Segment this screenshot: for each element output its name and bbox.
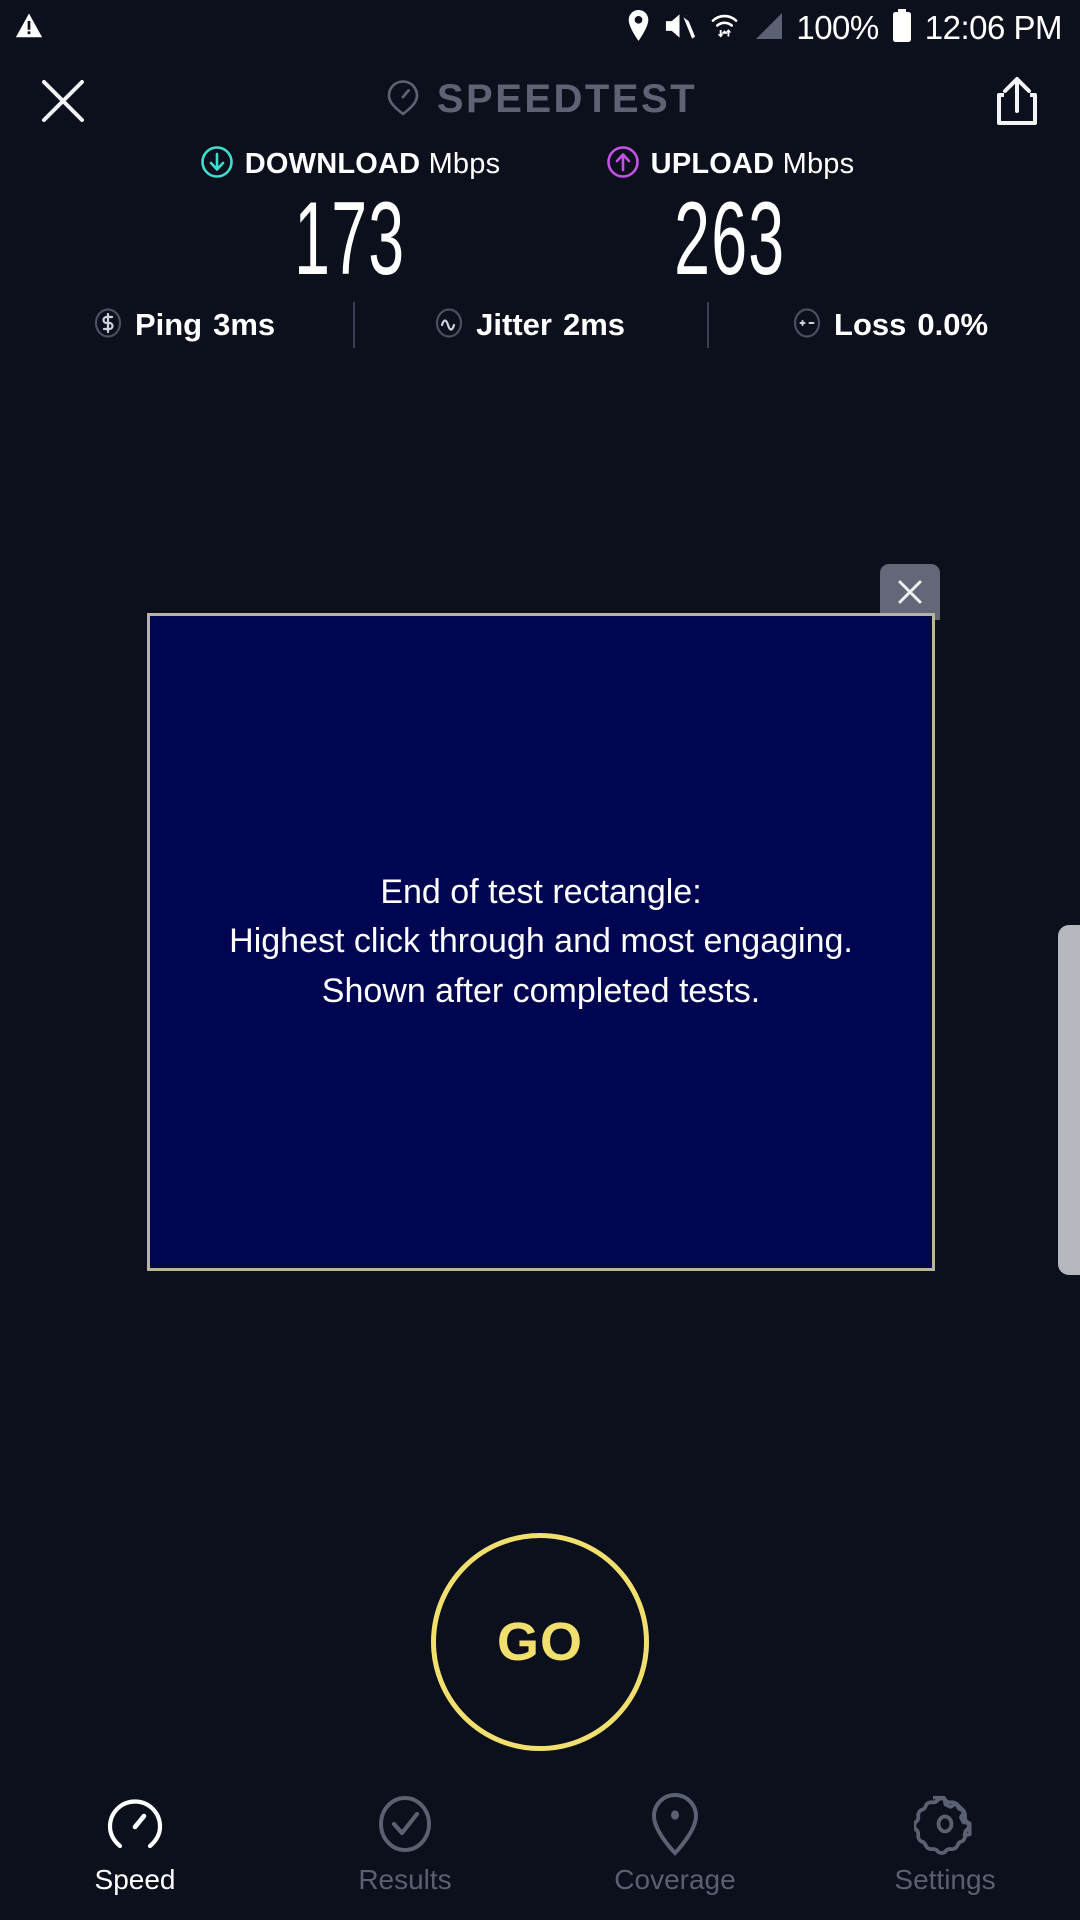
download-upload-row: DOWNLOAD Mbps 173 UPLOAD Mbps bbox=[0, 142, 1080, 292]
nav-label-coverage: Coverage bbox=[614, 1864, 735, 1896]
go-button-label: GO bbox=[497, 1611, 583, 1673]
map-pin-icon bbox=[647, 1788, 703, 1860]
loss-value: 0.0% bbox=[917, 307, 988, 343]
battery-percent-label: 100% bbox=[796, 9, 878, 47]
loss-icon bbox=[791, 307, 823, 344]
speedtest-app-screen: 100% 12:06 PM SPEEDTEST bbox=[0, 0, 1080, 1920]
status-bar-clock: 12:06 PM bbox=[925, 9, 1062, 47]
android-status-bar: 100% 12:06 PM bbox=[0, 0, 1080, 56]
ping-icon bbox=[92, 307, 124, 344]
nav-item-speed[interactable]: Speed bbox=[0, 1780, 270, 1896]
divider bbox=[707, 302, 709, 348]
close-x-icon[interactable] bbox=[32, 70, 94, 132]
app-header: SPEEDTEST bbox=[0, 56, 1080, 142]
loss-label: Loss bbox=[834, 307, 906, 343]
gear-icon bbox=[914, 1788, 976, 1860]
jitter-metric: Jitter 2ms bbox=[433, 307, 625, 344]
ping-value: 3ms bbox=[213, 307, 275, 343]
battery-full-icon bbox=[891, 9, 913, 48]
divider bbox=[353, 302, 355, 348]
go-button[interactable]: GO bbox=[431, 1533, 649, 1751]
jitter-value: 2ms bbox=[563, 307, 625, 343]
download-arrow-icon bbox=[200, 145, 234, 184]
speedometer-icon bbox=[383, 77, 423, 122]
loss-metric: Loss 0.0% bbox=[791, 307, 988, 344]
ping-metric: Ping 3ms bbox=[92, 307, 275, 344]
ping-label: Ping bbox=[135, 307, 202, 343]
brand-lockup: SPEEDTEST bbox=[0, 56, 1080, 142]
upload-arrow-icon bbox=[606, 145, 640, 184]
brand-title: SPEEDTEST bbox=[437, 77, 697, 122]
upload-metric-header: UPLOAD Mbps bbox=[606, 142, 855, 186]
jitter-icon bbox=[433, 307, 465, 344]
nav-label-settings: Settings bbox=[894, 1864, 995, 1896]
upload-metric: UPLOAD Mbps 263 bbox=[570, 142, 890, 292]
status-bar-left bbox=[0, 11, 44, 46]
status-bar-right: 100% 12:06 PM bbox=[625, 9, 1080, 48]
speedometer-icon bbox=[104, 1788, 166, 1860]
location-pin-icon bbox=[625, 10, 652, 47]
download-metric-label: DOWNLOAD Mbps bbox=[245, 148, 501, 181]
upload-metric-label: UPLOAD Mbps bbox=[651, 148, 855, 181]
ad-text: End of test rectangle: Highest click thr… bbox=[209, 868, 873, 1017]
advertisement-banner[interactable]: End of test rectangle: Highest click thr… bbox=[147, 613, 935, 1271]
nav-item-results[interactable]: Results bbox=[270, 1780, 540, 1896]
jitter-label: Jitter bbox=[476, 307, 552, 343]
nav-item-coverage[interactable]: Coverage bbox=[540, 1780, 810, 1896]
download-metric: DOWNLOAD Mbps 173 bbox=[190, 142, 510, 292]
share-upload-icon[interactable] bbox=[986, 68, 1048, 134]
nav-item-settings[interactable]: Settings bbox=[810, 1780, 1080, 1896]
download-metric-value: 173 bbox=[294, 186, 405, 292]
upload-metric-value: 263 bbox=[674, 186, 785, 292]
ad-close-x-icon[interactable] bbox=[880, 564, 940, 620]
volume-muted-icon bbox=[664, 11, 697, 46]
test-results-panel: DOWNLOAD Mbps 173 UPLOAD Mbps bbox=[0, 142, 1080, 348]
ad-scrollbar-thumb[interactable] bbox=[1058, 925, 1080, 1275]
nav-label-results: Results bbox=[358, 1864, 451, 1896]
warning-triangle-icon bbox=[14, 11, 44, 46]
check-circle-icon bbox=[374, 1788, 436, 1860]
download-metric-header: DOWNLOAD Mbps bbox=[200, 142, 501, 186]
nav-label-speed: Speed bbox=[95, 1864, 176, 1896]
ping-jitter-loss-row: Ping 3ms Jitter 2ms bbox=[0, 302, 1080, 348]
cellular-signal-icon bbox=[752, 11, 784, 46]
wifi-transfer-icon bbox=[709, 10, 740, 47]
bottom-navigation-bar: Speed Results Coverage bbox=[0, 1780, 1080, 1920]
